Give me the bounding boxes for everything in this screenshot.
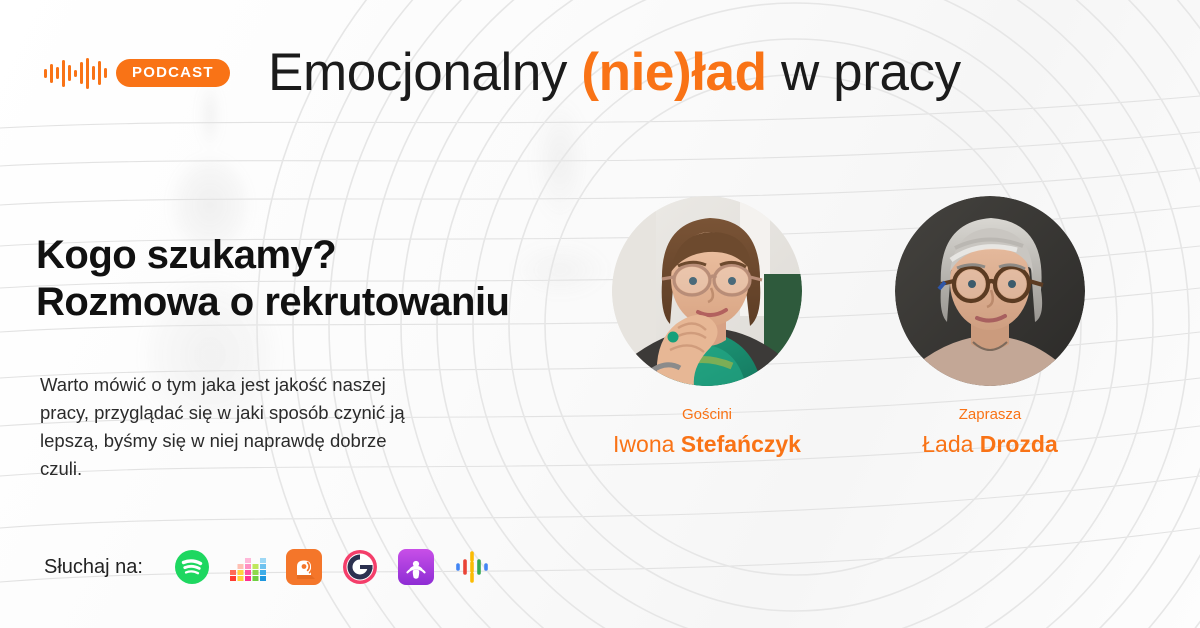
person-firstname-host: Łada [922,431,980,457]
episode-description: Warto mówić o tym jaka jest jakość nasze… [40,371,415,484]
podcast-addict-icon[interactable] [285,548,323,586]
deezer-icon[interactable] [229,548,267,586]
podcast-logo: PODCAST [44,56,230,90]
apple-podcasts-icon[interactable] [397,548,435,586]
person-name-host: Łada Drozda [860,431,1120,459]
listen-on-row: Słuchaj na: [44,548,491,586]
person-card-guest: Gościni Iwona Stefańczyk [577,196,837,459]
podcast-badge: PODCAST [116,59,230,87]
pocket-casts-icon[interactable] [341,548,379,586]
show-title: Emocjonalny (nie)ład w pracy [268,44,961,102]
avatar-iwona-stefanczyk [612,196,802,386]
person-name-guest: Iwona Stefańczyk [577,431,837,459]
person-firstname-guest: Iwona [613,431,681,457]
show-title-suffix: w pracy [767,43,961,102]
audio-waveform-icon [44,56,107,90]
person-lastname-guest: Stefańczyk [681,431,801,457]
avatar-lada-drozda [895,196,1085,386]
person-lastname-host: Drozda [980,431,1058,457]
listen-on-label: Słuchaj na: [44,556,143,579]
episode-headline-line-2: Rozmowa o rekrutowaniu [36,279,636,326]
episode-headline-line-1: Kogo szukamy? [36,232,636,279]
google-podcasts-icon[interactable] [453,548,491,586]
person-role-host: Zaprasza [860,406,1120,424]
show-title-highlight: (nie)ład [581,43,766,102]
spotify-icon[interactable] [173,548,211,586]
person-card-host: Zaprasza Łada Drozda [860,196,1120,459]
podcast-promo-card: PODCAST Emocjonalny (nie)ład w pracy Kog… [0,0,1200,628]
show-title-prefix: Emocjonalny [268,43,581,102]
episode-headline: Kogo szukamy? Rozmowa o rekrutowaniu [36,232,636,326]
person-role-guest: Gościni [577,406,837,424]
